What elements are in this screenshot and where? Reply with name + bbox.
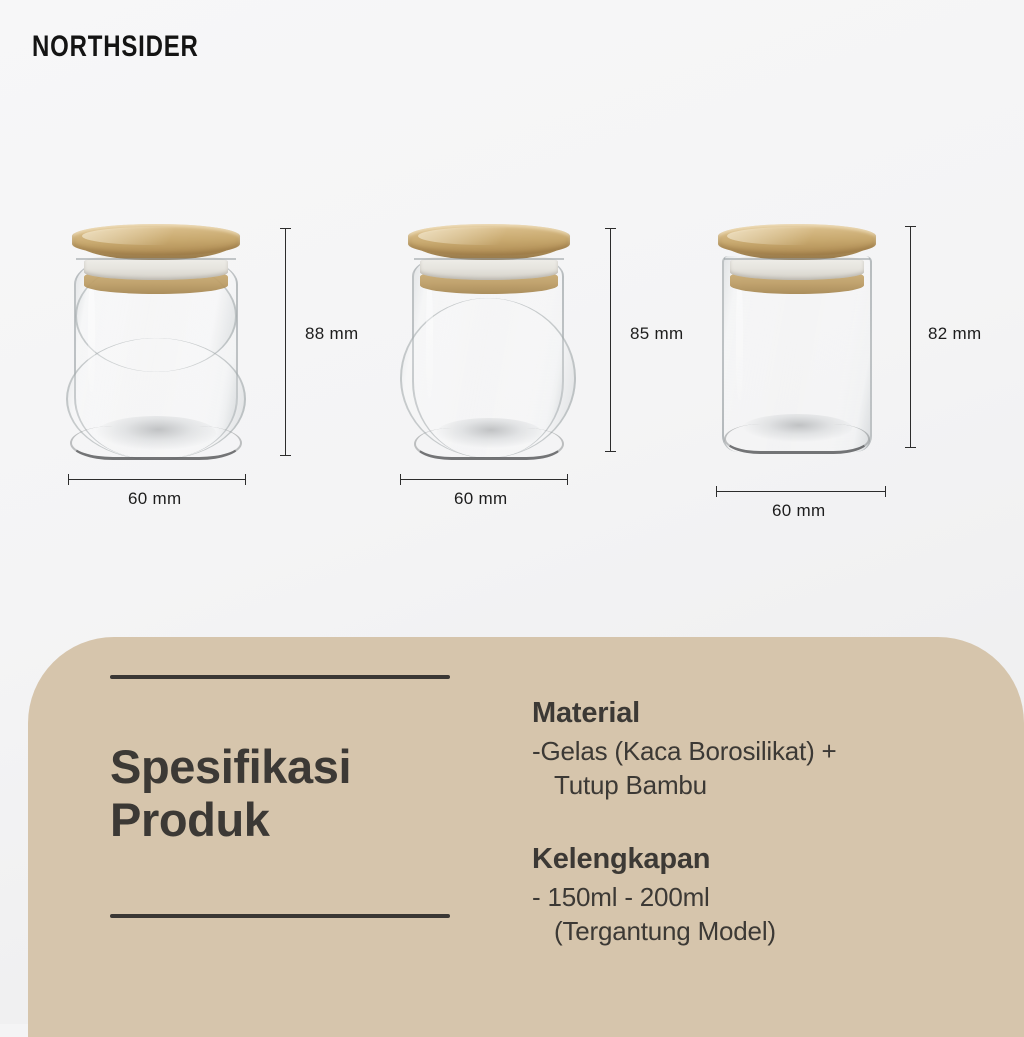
spec-title: Spesifikasi Produk: [110, 741, 450, 846]
jar-highlight: [88, 282, 95, 392]
width-dimension-label-round: 60 mm: [454, 489, 507, 509]
spec-heading-material: Material: [532, 697, 972, 730]
product-jar-cylinder[interactable]: [712, 220, 882, 460]
jar-bottom-rim: [724, 424, 870, 454]
height-dimension-label-gourd: 88 mm: [305, 324, 358, 344]
spec-text-material-line-1: -Gelas (Kaca Borosilikat) +: [532, 734, 972, 768]
spec-text-kelengkapan-line-2: (Tergantung Model): [532, 914, 972, 948]
jar-neck-line: [724, 258, 870, 260]
spec-section-kelengkapan: Kelengkapan - 150ml - 200ml (Tergantung …: [532, 843, 972, 949]
spec-section-gap: [532, 803, 972, 843]
width-dimension-line-gourd: [68, 479, 246, 480]
page-background: NORTHSIDER 88 mm 60 mm: [0, 0, 1024, 1024]
product-lineup: 88 mm 60 mm 85 mm 60 mm: [0, 0, 1024, 560]
spec-text-material-line-2: Tutup Bambu: [532, 768, 972, 802]
jar-neck-line: [76, 258, 236, 260]
height-dimension-label-round: 85 mm: [630, 324, 683, 344]
height-dimension-line-cylinder: [910, 226, 911, 448]
spec-title-line-2: Produk: [110, 794, 450, 847]
height-dimension-label-cylinder: 82 mm: [928, 324, 981, 344]
spec-title-block: Spesifikasi Produk: [110, 675, 450, 918]
jar-bottom-rim: [414, 428, 564, 460]
specification-panel: Spesifikasi Produk Material -Gelas (Kaca…: [28, 637, 1024, 1037]
spec-section-material: Material -Gelas (Kaca Borosilikat) + Tut…: [532, 697, 972, 803]
spec-rule-bottom: [110, 914, 450, 918]
spec-text-kelengkapan-line-1: - 150ml - 200ml: [532, 880, 972, 914]
jar-neck-line: [414, 258, 564, 260]
product-jar-round[interactable]: [398, 220, 578, 460]
spec-heading-kelengkapan: Kelengkapan: [532, 843, 972, 876]
jar-highlight: [736, 280, 743, 400]
width-dimension-label-gourd: 60 mm: [128, 489, 181, 509]
lid-top-surface: [718, 224, 876, 256]
height-dimension-line-round: [610, 228, 611, 452]
spec-rule-top: [110, 675, 450, 679]
lid-top-surface: [72, 224, 240, 256]
width-dimension-label-cylinder: 60 mm: [772, 501, 825, 521]
width-dimension-line-round: [400, 479, 568, 480]
jar-highlight: [426, 282, 433, 398]
lid-top-surface: [408, 224, 570, 256]
height-dimension-line-gourd: [285, 228, 286, 456]
width-dimension-line-cylinder: [716, 491, 886, 492]
spec-title-line-1: Spesifikasi: [110, 741, 450, 794]
product-jar-gourd[interactable]: [62, 220, 250, 460]
jar-bottom-rim: [70, 426, 242, 460]
spec-details-block: Material -Gelas (Kaca Borosilikat) + Tut…: [532, 697, 972, 948]
